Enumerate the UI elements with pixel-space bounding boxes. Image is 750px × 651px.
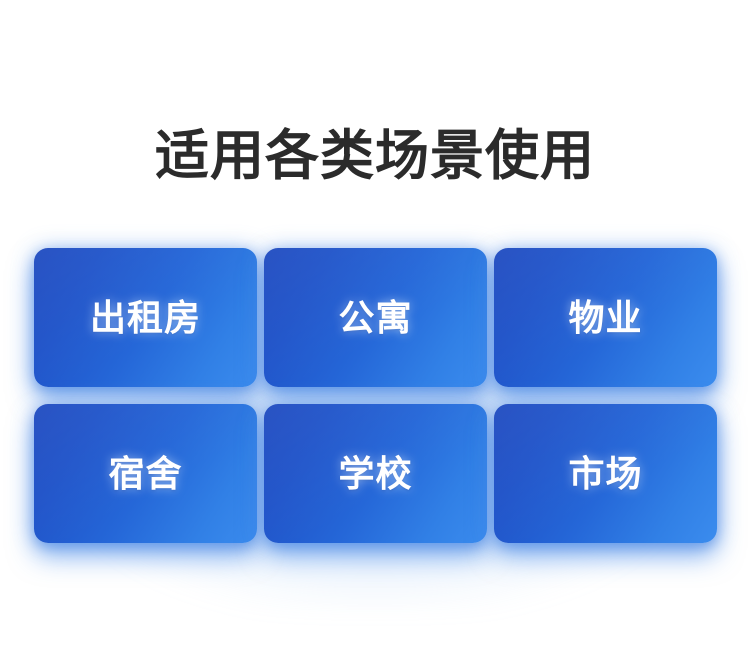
scenario-card-market[interactable]: 市场	[494, 404, 717, 543]
scenario-card-dormitory[interactable]: 宿舍	[34, 404, 257, 543]
scenario-card-property-management[interactable]: 物业	[494, 248, 717, 387]
scenario-card-label: 市场	[568, 452, 642, 496]
scenario-card-label: 出租房	[90, 296, 201, 340]
page-title-container: 适用各类场景使用	[0, 88, 750, 224]
scenario-showcase-page: 适用各类场景使用 出租房 公寓 物业 宿舍 学校 市场	[0, 0, 750, 651]
scenario-card-rental-house[interactable]: 出租房	[34, 248, 257, 387]
scenario-card-label: 公寓	[338, 296, 412, 340]
scenario-card-label: 物业	[568, 296, 642, 340]
scenario-card-label: 学校	[338, 452, 412, 496]
scenario-card-label: 宿舍	[108, 452, 182, 496]
scenario-card-grid: 出租房 公寓 物业 宿舍 学校 市场	[34, 248, 716, 543]
page-title: 适用各类场景使用	[155, 124, 595, 188]
scenario-card-apartment[interactable]: 公寓	[264, 248, 487, 387]
scenario-card-school[interactable]: 学校	[264, 404, 487, 543]
